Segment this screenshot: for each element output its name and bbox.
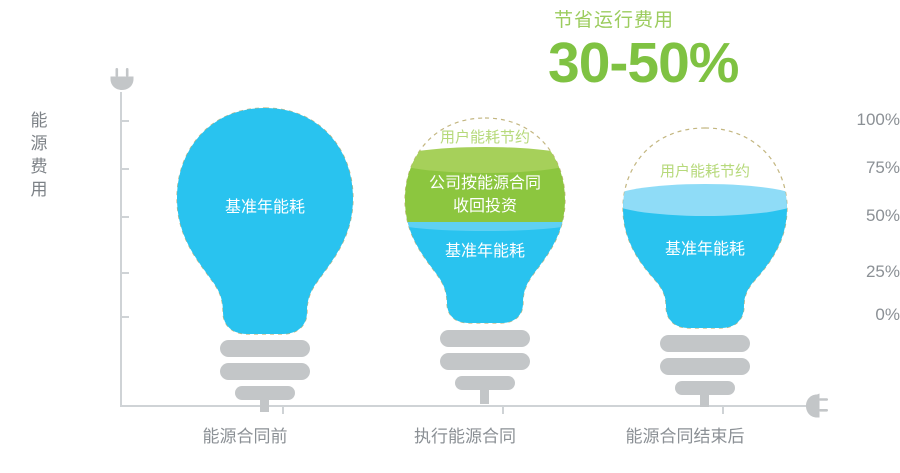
y-tick-mark-0	[120, 316, 129, 318]
y-tick-label-50: 50%	[822, 206, 900, 226]
y-tick-mark-100	[120, 120, 129, 122]
power-plug-icon-top	[108, 68, 136, 94]
y-tick-label-100: 100%	[822, 110, 900, 130]
y-axis-line	[120, 92, 122, 407]
y-tick-label-0: 0%	[822, 305, 900, 325]
bulb-3-graphic	[595, 0, 815, 473]
bulb-2-graphic	[375, 0, 595, 473]
y-tick-label-75: 75%	[822, 158, 900, 178]
bulb-2-saving-label: 用户能耗节约	[375, 128, 595, 148]
bulb-group-1[interactable]: 基准年能耗	[155, 0, 375, 473]
y-tick-mark-25	[120, 272, 129, 274]
y-tick-mark-50	[120, 216, 129, 218]
bulb-3-saving-label: 用户能耗节约	[595, 162, 815, 182]
infographic-canvas: 节省运行费用 30-50% 能源费用 100% 75% 50% 25% 0% 能…	[0, 0, 900, 473]
y-tick-label-25: 25%	[822, 262, 900, 282]
y-axis-title: 能源费用	[28, 110, 50, 202]
y-tick-mark-75	[120, 168, 129, 170]
bulb-1-graphic	[155, 0, 375, 473]
bulb-group-2[interactable]: 用户能耗节约 公司按能源合同 收回投资 基准年能耗	[375, 0, 595, 473]
bulb-group-3[interactable]: 用户能耗节约 基准年能耗	[595, 0, 815, 473]
